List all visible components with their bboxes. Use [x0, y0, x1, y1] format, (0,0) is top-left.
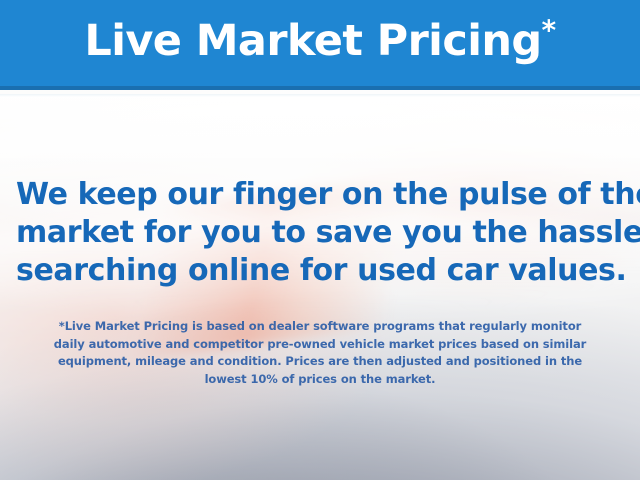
live-market-pricing-poster: Live Market Pricing* We keep our finger … — [0, 0, 640, 480]
banner-title-text: Live Market Pricing — [84, 16, 541, 66]
header-banner: Live Market Pricing* — [0, 0, 640, 90]
headline-line-2: market for you to save you the hassle of — [16, 214, 624, 252]
headline: We keep our finger on the pulse of the m… — [16, 176, 624, 290]
disclaimer-line-3: equipment, mileage and condition. Prices… — [22, 353, 618, 371]
banner-title: Live Market Pricing* — [84, 20, 555, 66]
disclaimer-line-2: daily automotive and competitor pre-owne… — [22, 336, 618, 354]
disclaimer-line-4: lowest 10% of prices on the market. — [22, 371, 618, 389]
headline-line-3: searching online for used car values. — [16, 252, 624, 290]
banner-underline — [0, 94, 640, 97]
banner-asterisk: * — [542, 14, 556, 47]
disclaimer-line-1: *Live Market Pricing is based on dealer … — [22, 318, 618, 336]
headline-line-1: We keep our finger on the pulse of the — [16, 176, 624, 214]
poster-content: We keep our finger on the pulse of the m… — [0, 94, 640, 480]
disclaimer-footnote: *Live Market Pricing is based on dealer … — [22, 318, 618, 388]
